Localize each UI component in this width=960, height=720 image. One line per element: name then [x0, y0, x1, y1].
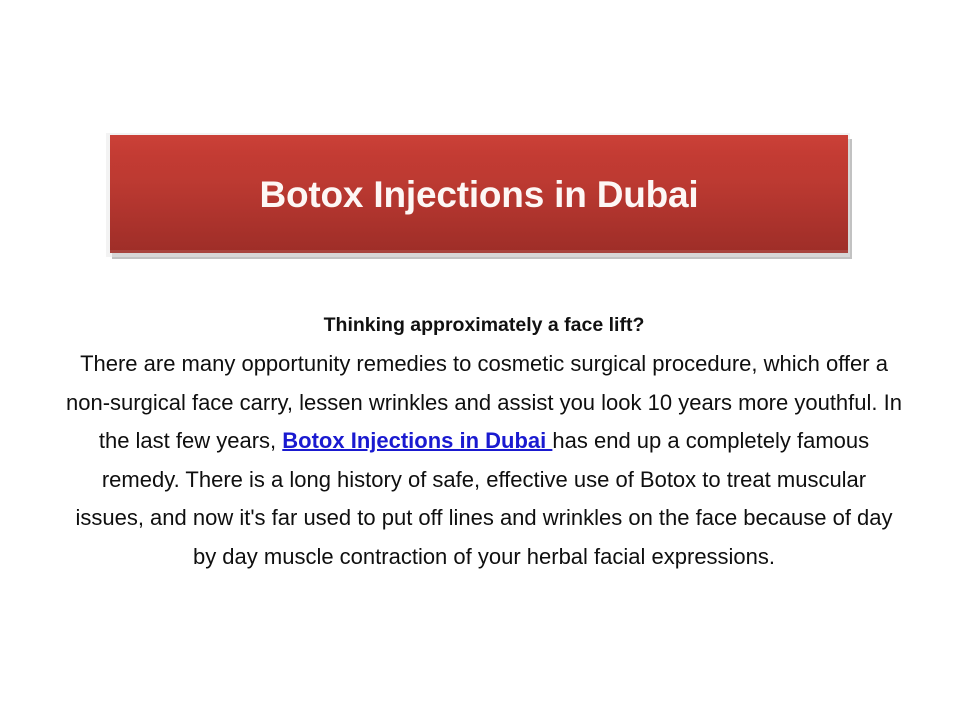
title-banner-fill: Botox Injections in Dubai: [110, 135, 848, 253]
botox-injections-in-dubai-link[interactable]: Botox Injections in Dubai: [282, 428, 552, 453]
lead-heading: Thinking approximately a face lift?: [66, 306, 902, 344]
body-content: Thinking approximately a face lift? Ther…: [66, 306, 902, 576]
page-title: Botox Injections in Dubai: [259, 176, 698, 213]
body-paragraph: There are many opportunity remedies to c…: [66, 345, 902, 576]
title-banner: Botox Injections in Dubai: [104, 131, 856, 261]
slide-canvas: Botox Injections in Dubai Thinking appro…: [0, 0, 960, 720]
